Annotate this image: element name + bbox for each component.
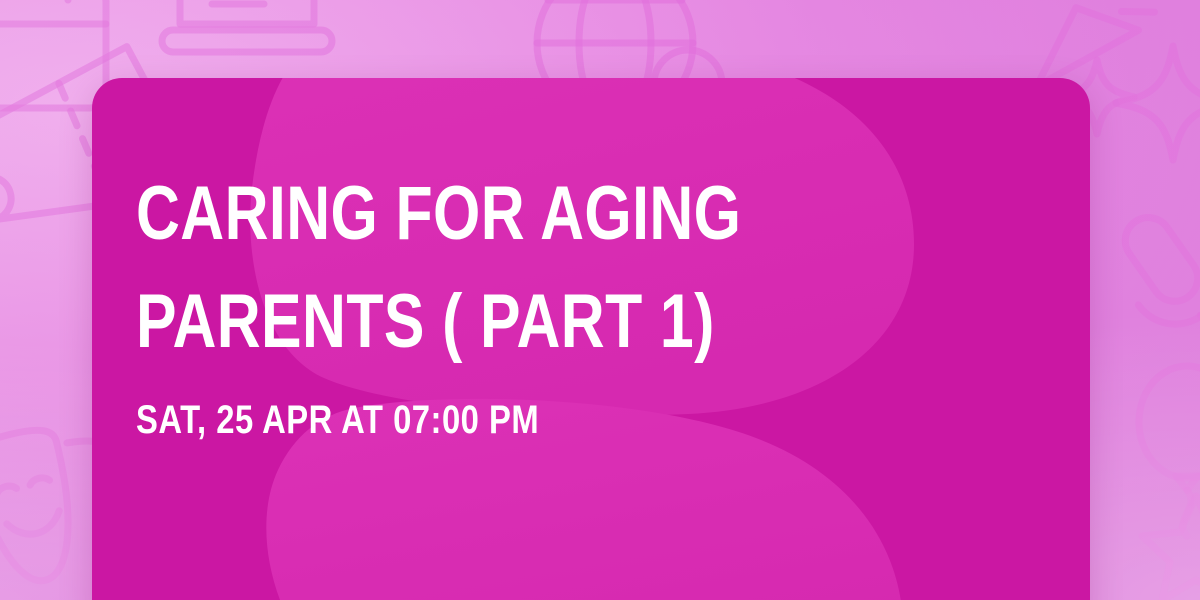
- event-date-time: Sat, 25 Apr at 07:00 PM: [136, 396, 539, 444]
- event-card[interactable]: Caring for Aging Parents ( Part 1) Sat, …: [92, 78, 1090, 600]
- event-title: Caring for Aging Parents ( Part 1): [136, 160, 792, 376]
- event-banner-stage: Caring for Aging Parents ( Part 1) Sat, …: [0, 0, 1200, 600]
- event-card-content: Caring for Aging Parents ( Part 1) Sat, …: [136, 78, 1050, 600]
